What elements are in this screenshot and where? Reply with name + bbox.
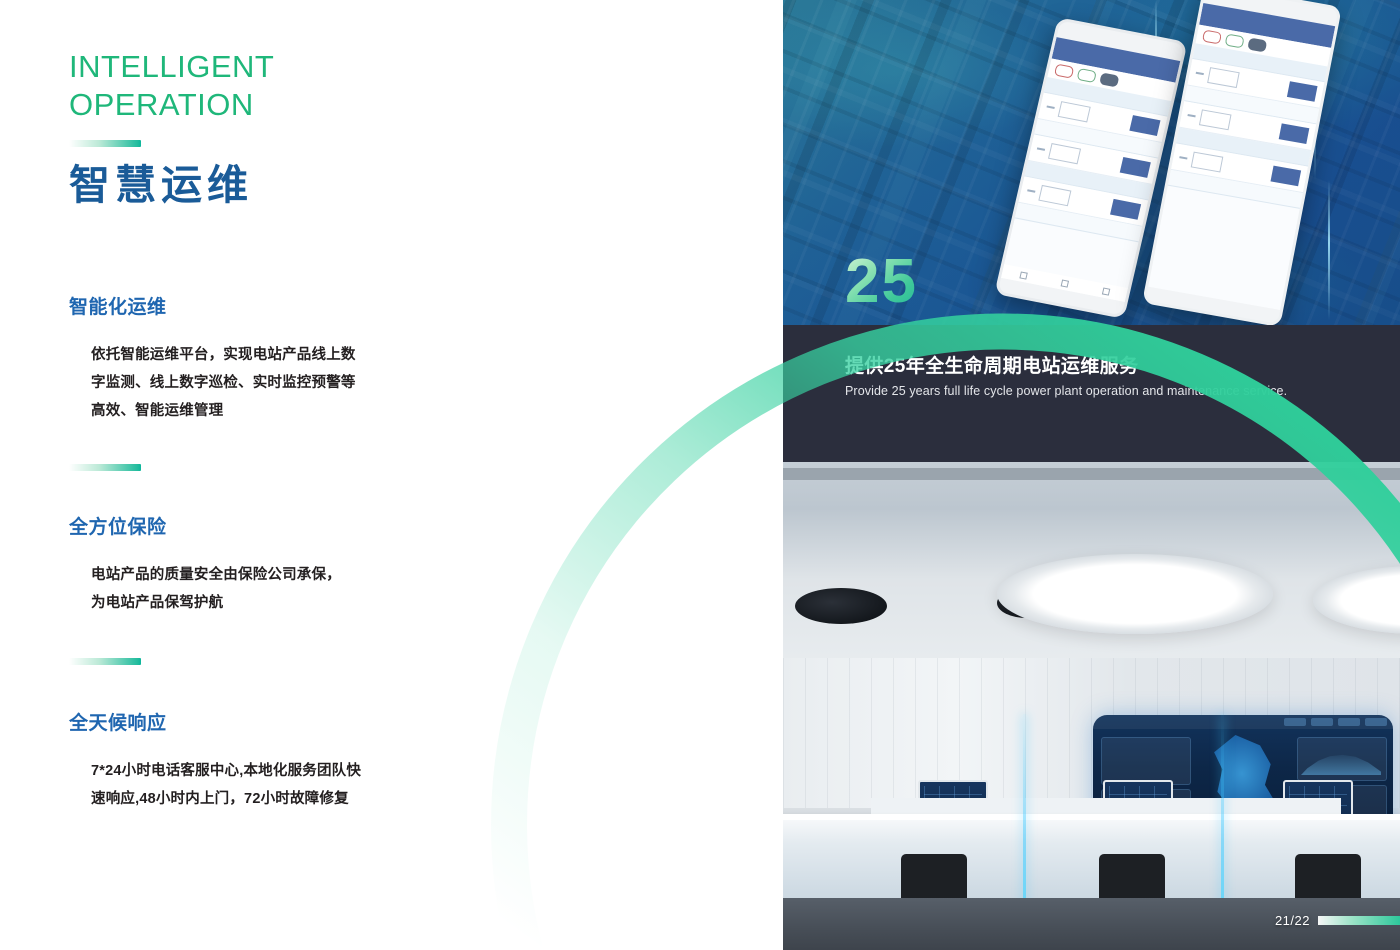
nav-recents-icon (1101, 287, 1109, 295)
ceiling-ring-light (997, 554, 1273, 634)
section-heading: 全天候响应 (69, 708, 469, 735)
section-body-text: 电站产品的质量安全由保险公司承保， 为电站产品保驾护航 (91, 561, 469, 617)
page-eyebrow-title: INTELLIGENT OPERATION (69, 48, 274, 124)
feature-section-response: 全天候响应 7*24小时电话客服中心,本地化服务团队快 速响应,48小时内上门，… (69, 708, 469, 813)
video-wall-tab (1338, 718, 1360, 726)
video-wall-tab (1284, 718, 1306, 726)
row-action-button (1120, 157, 1151, 178)
row-action-button (1270, 166, 1301, 187)
filter-chip (1202, 29, 1222, 44)
row-label (1046, 105, 1054, 108)
feature-section-insurance: 全方位保险 电站产品的质量安全由保险公司承保， 为电站产品保驾护航 (69, 512, 469, 617)
section-heading: 智能化运维 (69, 292, 469, 319)
section-divider-rule (69, 464, 141, 471)
row-value-box (1207, 67, 1240, 88)
filter-chip (1247, 37, 1267, 52)
video-wall-tab (1311, 718, 1333, 726)
caption-english: Provide 25 years full life cycle power p… (845, 384, 1287, 398)
row-action-button (1279, 123, 1310, 144)
row-value-box (1038, 185, 1071, 206)
filter-chip (1225, 33, 1245, 48)
page-number-accent-bar (1318, 916, 1400, 925)
filter-chip (1054, 63, 1074, 78)
row-action-button (1129, 115, 1160, 136)
video-wall-tab (1365, 718, 1387, 726)
section-body-text: 7*24小时电话客服中心,本地化服务团队快 速响应,48小时内上门，72小时故障… (91, 757, 469, 813)
feature-section-intelligent-ops: 智能化运维 依托智能运维平台，实现电站产品线上数 字监测、线上数字巡检、实时监控… (69, 292, 469, 425)
ceiling-light-slot (795, 588, 887, 624)
nav-home-icon (1060, 279, 1068, 287)
nav-back-icon (1019, 271, 1027, 279)
row-label (1196, 72, 1204, 75)
phone-nav-bar (1001, 264, 1128, 302)
row-value-box (1191, 152, 1224, 173)
video-wall-tabs (1284, 718, 1387, 726)
row-label (1037, 147, 1045, 150)
hero-aerial-city-image: 25 (783, 0, 1400, 325)
row-label (1187, 114, 1195, 117)
section-body-text: 依托智能运维平台，实现电站产品线上数 字监测、线上数字巡检、实时监控预警等 高效… (91, 341, 469, 425)
section-divider-rule (69, 658, 141, 665)
caption-banner: 提供25年全生命周期电站运维服务 Provide 25 years full l… (783, 325, 1400, 462)
row-value-box (1199, 109, 1232, 130)
row-label (1179, 156, 1187, 159)
section-heading: 全方位保险 (69, 512, 469, 539)
brochure-page: INTELLIGENT OPERATION 智慧运维 智能化运维 依托智能运维平… (0, 0, 1400, 950)
page-number: 21/22 (1275, 913, 1310, 928)
row-value-box (1058, 101, 1091, 122)
right-media-column: 25 提供25年全生命周期电站运维服务 Provide 25 years ful… (783, 0, 1400, 950)
row-action-button (1110, 199, 1141, 220)
left-content-column: INTELLIGENT OPERATION 智慧运维 智能化运维 依托智能运维平… (0, 0, 783, 950)
filter-chip (1077, 67, 1097, 82)
caption-chinese: 提供25年全生命周期电站运维服务 (845, 351, 1139, 378)
light-beam-decor (1328, 180, 1330, 320)
row-action-button (1287, 81, 1318, 102)
row-value-box (1048, 143, 1081, 164)
video-wall-header (1093, 715, 1393, 729)
video-wall-panel (1101, 737, 1191, 785)
row-label (1027, 189, 1035, 192)
filter-chip (1099, 72, 1119, 87)
years-big-number: 25 (845, 251, 918, 313)
page-title: 智慧运维 (69, 160, 253, 210)
title-accent-rule (69, 140, 141, 147)
control-room-image (783, 462, 1400, 950)
